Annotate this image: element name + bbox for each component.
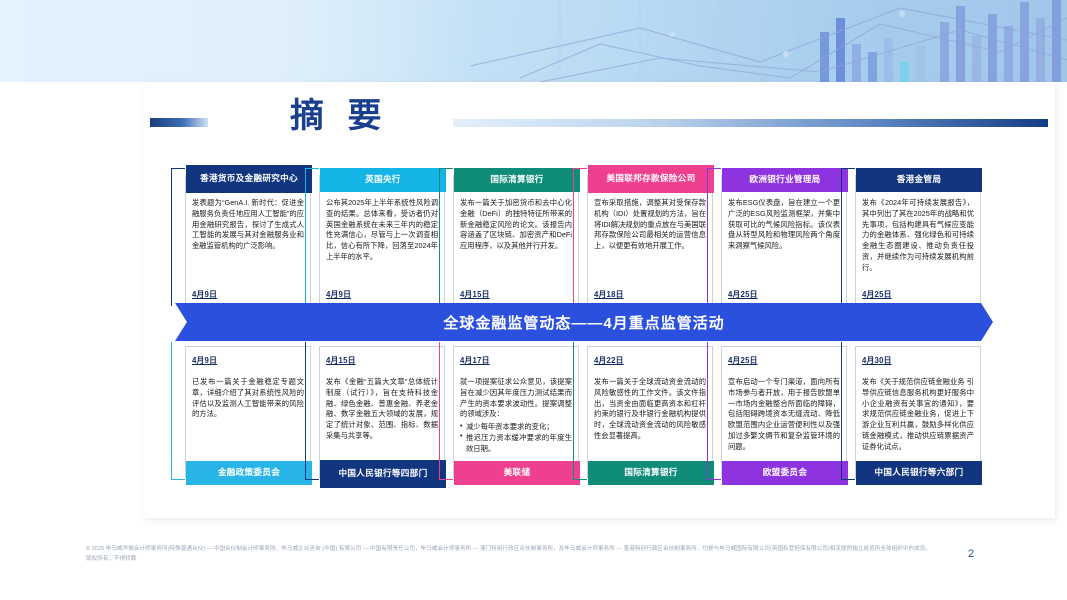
connector-elbow-bottom <box>573 342 587 480</box>
event-description: 宣布启动一个专门渠道，面向所有市场参与者开放，用于报告欧盟单一市场内金融整合所面… <box>728 377 840 453</box>
organization-badge[interactable]: 中国人民银行等六部门 <box>856 461 982 485</box>
event-card-top: 欧洲银行业管理局发布ESG仪表盘，旨在建立一个更广泛的ESG风险监测框架，并集中… <box>721 175 847 307</box>
event-date: 4月9日 <box>326 289 351 300</box>
connector-elbow-bottom <box>305 342 319 480</box>
event-date: 4月22日 <box>594 355 624 366</box>
event-description: 发表题为“GenA.I. 新时代：促进金融服务负责任地应用人工智能”的应用金融研… <box>192 198 304 252</box>
event-description: 发布ESG仪表盘，旨在建立一个更广泛的ESG风险监测框架，并集中获取可比的气候风… <box>728 198 840 252</box>
organization-badge[interactable]: 中国人民银行等四部门 <box>320 460 446 488</box>
event-description: 发布一篇关于全球流动资金流动的风险敏感性的工作文件。该文件指出，当资金由面临更高… <box>594 377 706 442</box>
organization-badge[interactable]: 欧洲银行业管理局 <box>722 168 848 192</box>
slide-root: 摘 要 香港货币及金融研究中心发表题为“GenA.I. 新时代：促进金融服务负责… <box>0 0 1067 600</box>
event-date: 4月9日 <box>192 289 217 300</box>
event-card-bottom: 中国人民银行等四部门发布《金融“五篇大文章”总体统计制度（试行）》，旨在支持科技… <box>319 346 445 478</box>
event-description: 发布一篇关于加密货币和去中心化金融（DeFi）的独特特征所带来的新金融稳定风险的… <box>460 198 572 252</box>
event-description: 发布《关于规范供应链金融业务 引导供应链信息服务机构更好服务中小企业融资有关事宜… <box>862 377 974 453</box>
connector-elbow-top <box>841 168 855 306</box>
event-bullet-item: 减少每年资本要求的变化； <box>460 422 572 433</box>
event-card-top: 美国联邦存款保险公司宣布采取措施，调整其对受保存款机构（IDI）处置规划的方法，… <box>587 175 713 307</box>
connector-elbow-bottom <box>171 342 185 480</box>
organization-badge[interactable]: 香港货币及金融研究中心 <box>186 165 312 193</box>
event-description: 就一项提案征求公众意见，该提案旨在减少因其年度压力测试结果而产生的资本要求波动性… <box>460 377 572 455</box>
event-description: 发布《金融“五篇大文章”总体统计制度（试行）》，旨在支持科技金融、绿色金融、普惠… <box>326 377 438 442</box>
page-number: 2 <box>968 548 974 560</box>
event-date: 4月15日 <box>326 355 356 366</box>
event-date: 4月30日 <box>862 355 892 366</box>
event-card-top: 香港货币及金融研究中心发表题为“GenA.I. 新时代：促进金融服务负责任地应用… <box>185 175 311 307</box>
connector-elbow-top <box>707 168 721 306</box>
page-title: 摘 要 <box>290 88 388 137</box>
connector-elbow-bottom <box>841 342 855 480</box>
connector-elbow-top <box>439 168 453 306</box>
organization-badge[interactable]: 美联储 <box>454 461 580 485</box>
event-description: 宣布采取措施，调整其对受保存款机构（IDI）处置规划的方法，旨在将IDI解决规划… <box>594 198 706 252</box>
banner-left-fade <box>0 0 470 82</box>
event-date: 4月15日 <box>460 289 490 300</box>
organization-badge[interactable]: 国际清算银行 <box>454 168 580 192</box>
event-date: 4月25日 <box>728 355 758 366</box>
decorative-finance-banner <box>0 0 1067 82</box>
organization-badge[interactable]: 香港金管局 <box>856 168 982 192</box>
connector-elbow-top <box>573 168 587 306</box>
connector-elbow-bottom <box>439 342 453 480</box>
event-date: 4月25日 <box>862 289 892 300</box>
organization-badge[interactable]: 美国联邦存款保险公司 <box>588 165 714 193</box>
title-row: 摘 要 <box>143 96 1055 140</box>
event-date: 4月9日 <box>192 355 217 366</box>
connector-elbow-top <box>171 168 185 306</box>
event-bullet-item: 推迟压力资本缓冲要求的年度生效日期。 <box>460 433 572 455</box>
organization-badge[interactable]: 国际清算银行 <box>588 461 714 485</box>
event-date: 4月25日 <box>728 289 758 300</box>
connector-elbow-bottom <box>707 342 721 480</box>
event-card-top: 英国央行公布其2025年上半年系统性风险调查的结果。总体来看，受访者仍对英国金融… <box>319 175 445 307</box>
event-card-bottom: 美联储就一项提案征求公众意见，该提案旨在减少因其年度压力测试结果而产生的资本要求… <box>453 346 579 478</box>
event-description: 公布其2025年上半年系统性风险调查的结果。总体来看，受访者仍对英国金融系统在未… <box>326 198 438 263</box>
section-ribbon: 全球金融监管动态——4月重点监管活动 <box>175 303 993 341</box>
connector-elbow-top <box>305 168 319 306</box>
event-description: 发布《2024年可持续发展报告》，其中列出了其在2025年的战略和优先事项，包括… <box>862 198 974 274</box>
event-card-bottom: 欧盟委员会宣布启动一个专门渠道，面向所有市场参与者开放，用于报告欧盟单一市场内金… <box>721 346 847 478</box>
event-card-bottom: 国际清算银行发布一篇关于全球流动资金流动的风险敏感性的工作文件。该文件指出，当资… <box>587 346 713 478</box>
event-description: 已发布一篇关于金融稳定专题文章，详细介绍了其对系统性风险的评估以及监测人工智能带… <box>192 377 304 420</box>
event-date: 4月17日 <box>460 355 490 366</box>
title-rule-left <box>150 118 208 127</box>
event-card-top: 香港金管局发布《2024年可持续发展报告》，其中列出了其在2025年的战略和优先… <box>855 175 981 307</box>
event-bullet-list: 减少每年资本要求的变化；推迟压力资本缓冲要求的年度生效日期。 <box>460 422 572 454</box>
legal-footer: © 2025 毕马威华振会计师事务所(特殊普通合伙) — 中国合伙制会计师事务所… <box>86 544 931 565</box>
event-date: 4月18日 <box>594 289 624 300</box>
organization-badge[interactable]: 欧盟委员会 <box>722 461 848 485</box>
title-rule-right <box>453 119 1048 127</box>
event-card-top: 国际清算银行发布一篇关于加密货币和去中心化金融（DeFi）的独特特征所带来的新金… <box>453 175 579 307</box>
organization-badge[interactable]: 英国央行 <box>320 168 446 192</box>
ribbon-label: 全球金融监管动态——4月重点监管活动 <box>443 312 724 333</box>
organization-badge[interactable]: 金融政策委员会 <box>186 461 312 485</box>
event-card-bottom: 金融政策委员会已发布一篇关于金融稳定专题文章，详细介绍了其对系统性风险的评估以及… <box>185 346 311 478</box>
event-card-bottom: 中国人民银行等六部门发布《关于规范供应链金融业务 引导供应链信息服务机构更好服务… <box>855 346 981 478</box>
